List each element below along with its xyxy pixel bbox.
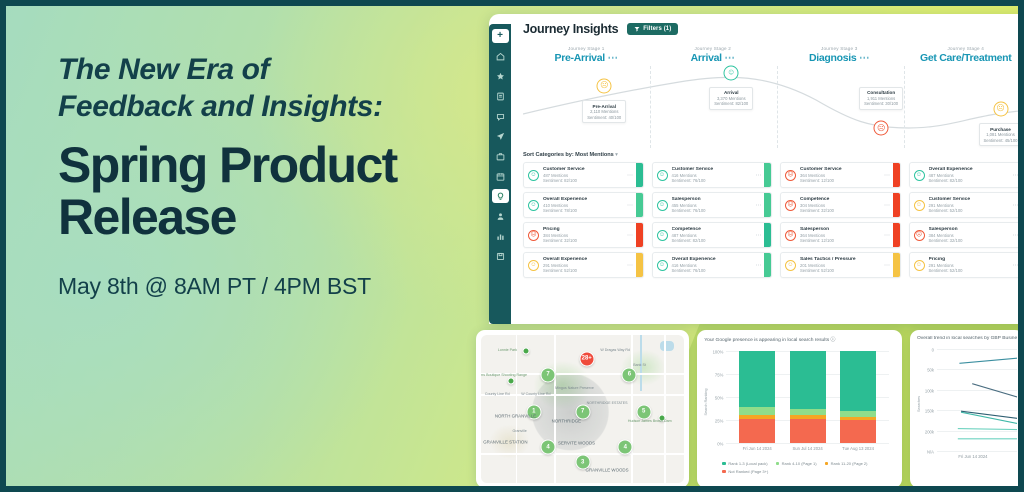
map-label: NORTH GRANVILLE — [495, 414, 536, 419]
category-name: Customer Service — [800, 167, 884, 172]
sort-categories-control[interactable]: Sort Categories by: Most Mentions ▾ — [523, 152, 1024, 158]
sentiment-face-icon: ☹ — [914, 230, 925, 241]
sentiment-bar — [636, 223, 643, 247]
category-column-4: ☺ Overall Experience 487 Mentions Sentim… — [909, 162, 1024, 278]
send-icon[interactable] — [492, 129, 509, 143]
tooltip-sentiment: Sentiment: 82/100 — [714, 101, 748, 106]
sentiment-face-icon: ☺ — [657, 200, 668, 211]
category-sentiment: Sentiment: 32/100 — [543, 238, 627, 243]
hero-copy: The New Era of Feedback and Insights: Sp… — [58, 52, 458, 300]
y-tick-label: 200k — [925, 429, 934, 434]
category-sentiment: Sentiment: 82/100 — [672, 238, 756, 243]
category-name: Customer Service — [929, 197, 1013, 202]
legend-swatch — [825, 462, 829, 466]
journey-tooltip-arrival: Arrival 3,370 Mentions Sentiment: 82/100 — [709, 87, 753, 110]
hero-eyebrow-line-2: Feedback and Insights: — [58, 89, 458, 126]
category-column-1: ☺ Customer Service 487 Mentions Sentimen… — [523, 162, 644, 278]
card-menu-icon[interactable]: ⋯ — [627, 232, 634, 239]
y-tick-label: 100% — [713, 350, 724, 355]
chat-bubble-icon[interactable] — [492, 109, 509, 123]
category-mentions: 455 Mentions — [672, 203, 756, 208]
journey-stage-1[interactable]: Journey Stage 1 Pre-Arrival ⋯ — [523, 46, 650, 64]
line-chart-title: Overall trend in local searches by GBP B… — [917, 336, 1017, 341]
category-sentiment: Sentiment: 78/100 — [543, 208, 627, 213]
journey-node-arrival[interactable]: ☺ — [724, 65, 739, 80]
card-menu-icon[interactable]: ⋯ — [884, 232, 891, 239]
category-card[interactable]: ☺ Overall Experience 291 Mentions Sentim… — [523, 252, 644, 278]
bar-segment-rank-4-10 — [739, 407, 775, 415]
y-tick-label: 50% — [715, 396, 723, 401]
app-sidebar-rail: + — [489, 24, 511, 324]
sentiment-bar — [893, 193, 900, 217]
line-chart-svg — [937, 349, 1017, 451]
sentiment-bar — [893, 223, 900, 247]
map-label: Sir Arms Boutique Shooting Range — [481, 373, 527, 377]
category-card[interactable]: ☺ Overall Experience 487 Mentions Sentim… — [909, 162, 1024, 188]
local-map-panel[interactable]: 28+ 7 6 1 7 5 4 4 3 Lonnie Park Sir Arms… — [476, 330, 689, 488]
sentiment-face-icon: ☺ — [528, 260, 539, 271]
category-name: Overall Experience — [929, 167, 1013, 172]
category-mentions: 291 Mentions — [929, 263, 1013, 268]
category-card[interactable]: ☺ Salesperson 455 Mentions Sentiment: 76… — [652, 192, 773, 218]
stage-menu-icon[interactable]: ⋯ — [859, 52, 870, 64]
sentiment-bar — [764, 163, 771, 187]
category-mentions: 364 Mentions — [800, 233, 884, 238]
card-menu-icon[interactable]: ⋯ — [627, 172, 634, 179]
map-label: Lonnie Park — [498, 348, 517, 352]
card-menu-icon[interactable]: ⋯ — [756, 202, 763, 209]
bar-group[interactable]: Fri Jun 14 2024 — [739, 351, 775, 443]
hero-title-line-1: Spring Product — [58, 139, 458, 191]
bar-chart-icon[interactable] — [492, 229, 509, 243]
map-road — [554, 335, 556, 483]
stage-divider-1 — [650, 66, 651, 148]
card-menu-icon[interactable]: ⋯ — [627, 262, 634, 269]
category-card[interactable]: ☺ Competence 487 Mentions Sentiment: 82/… — [652, 222, 773, 248]
card-menu-icon[interactable]: ⋯ — [756, 262, 763, 269]
bar-segment-not-ranked — [739, 419, 775, 443]
journey-stage-4[interactable]: Journey Stage 4 Get Care/Treatment — [903, 46, 1024, 64]
filter-icon — [634, 26, 640, 32]
sentiment-bar — [636, 193, 643, 217]
stage-name-label: Get Care/Treatment — [903, 52, 1024, 64]
map-pin[interactable]: 4 — [541, 440, 556, 455]
stage-name-text: Diagnosis — [809, 52, 856, 64]
stage-menu-icon[interactable]: ⋯ — [724, 52, 735, 64]
category-sentiment: Sentiment: 82/100 — [543, 178, 627, 183]
category-mentions: 201 Mentions — [800, 263, 884, 268]
legend-swatch — [722, 462, 726, 466]
legend-label: Rank 1-3 (Local pack) — [728, 461, 767, 466]
category-card[interactable]: ☺ Customer Service 291 Mentions Sentimen… — [909, 192, 1024, 218]
category-name: Salesperson — [929, 227, 1013, 232]
bar-chart-plot: Search Ranking 100% 75% 50% 25% 0% Fri J… — [704, 347, 895, 457]
y-tick-label: 0 — [932, 348, 934, 353]
legend-label: Rank 11-20 (Page 2) — [831, 461, 868, 466]
sentiment-bar — [764, 223, 771, 247]
map-road — [481, 394, 684, 396]
map-pin[interactable]: 7 — [541, 367, 556, 382]
card-menu-icon[interactable]: ⋯ — [627, 202, 634, 209]
card-menu-icon[interactable]: ⋯ — [1013, 262, 1020, 269]
page-title: Spring Product Release — [58, 139, 458, 243]
sentiment-face-icon: ☹ — [785, 200, 796, 211]
event-date: May 8th @ 8AM PT / 4PM BST — [58, 273, 458, 300]
category-mentions: 291 Mentions — [543, 263, 627, 268]
map-label: Granville — [513, 429, 527, 433]
stage-divider-2 — [777, 66, 778, 148]
sentiment-face-icon: ☺ — [528, 170, 539, 181]
map-poi-pin[interactable] — [522, 348, 529, 355]
category-mentions: 416 Mentions — [672, 173, 756, 178]
tooltip-title: Consultation — [864, 90, 898, 95]
stage-name-label: Pre-Arrival ⋯ — [523, 52, 650, 64]
category-card[interactable]: ☺ Customer Service 487 Mentions Sentimen… — [523, 162, 644, 188]
tooltip-sentiment: Sentiment: 30/100 — [864, 101, 898, 106]
map-label: W County Line Rd — [521, 392, 550, 396]
category-card[interactable]: ☹ Salesperson 364 Mentions Sentiment: 12… — [780, 222, 901, 248]
legend-label: Rank 4-10 (Page 1) — [782, 461, 817, 466]
map-label: Hudson James Brown Dam — [628, 419, 672, 423]
line-chart-grid: 0 50k 100k 150k 200k N/A Fri Jun 14 2024 — [937, 349, 1017, 451]
stage-sub-label: Journey Stage 4 — [903, 46, 1024, 51]
category-name: Competence — [800, 197, 884, 202]
legend-swatch — [776, 462, 780, 466]
category-card[interactable]: ☺ Customer Service 416 Mentions Sentimen… — [652, 162, 773, 188]
card-menu-icon[interactable]: ⋯ — [1013, 232, 1020, 239]
filters-button-label: Filters (1) — [643, 26, 671, 32]
map-pin[interactable]: 7 — [575, 404, 590, 419]
map-label: NORTHRIDGE ESTATES — [587, 401, 628, 405]
hero-title-line-2: Release — [58, 191, 458, 243]
tooltip-mentions: 1,081 Mentions — [984, 132, 1018, 137]
category-sentiment: Sentiment: 32/100 — [800, 208, 884, 213]
dashboard-body: Journey Insights Filters (1) Journey Sta… — [511, 14, 1024, 324]
calendar-icon[interactable] — [492, 169, 509, 183]
sentiment-bar — [764, 253, 771, 277]
stage-sub-label: Journey Stage 1 — [523, 46, 650, 51]
sentiment-bar — [636, 163, 643, 187]
bar-group[interactable]: Tue Aug 13 2024 — [840, 351, 876, 443]
map-label: W Dragas Way Rd — [600, 348, 630, 352]
y-tick-label: 100k — [925, 388, 934, 393]
lightbulb-icon[interactable] — [492, 189, 509, 203]
hero-eyebrow: The New Era of Feedback and Insights: — [58, 52, 458, 125]
line-chart-plot: Searches 0 50k 100k 150k 200k N/A — [917, 345, 1017, 463]
card-menu-icon[interactable]: ⋯ — [884, 202, 891, 209]
x-tick-label: Tue Aug 13 2024 — [842, 446, 874, 451]
journey-stage-2[interactable]: Journey Stage 2 Arrival ⋯ — [650, 46, 777, 64]
tooltip-title: Pre-Arrival — [587, 104, 621, 109]
category-sentiment: Sentiment: 12/100 — [800, 178, 884, 183]
category-name: Pricing — [929, 257, 1013, 262]
sentiment-face-icon: ☺ — [657, 260, 668, 271]
sentiment-face-icon: ☺ — [657, 230, 668, 241]
category-mentions: 416 Mentions — [672, 263, 756, 268]
sentiment-face-icon: ☺ — [914, 260, 925, 271]
dashboard-header: Journey Insights Filters (1) — [523, 22, 1024, 36]
category-sentiment: Sentiment: 52/100 — [543, 268, 627, 273]
category-mentions: 364 Mentions — [800, 173, 884, 178]
journey-tooltip-purchase: Purchase 1,081 Mentions Sentiment: 45/10… — [979, 123, 1023, 146]
map-label: Mingus Nature Preserve — [555, 386, 594, 390]
bar-chart-legend: Rank 1-3 (Local pack) Rank 4-10 (Page 1)… — [704, 461, 895, 474]
card-menu-icon[interactable]: ⋯ — [1013, 172, 1020, 179]
bar-chart-grid: 100% 75% 50% 25% 0% Fri Jun 14 2024 — [726, 351, 889, 443]
category-card[interactable]: ☺ Overall Experience 416 Mentions Sentim… — [652, 252, 773, 278]
hero-eyebrow-line-1: The New Era of — [58, 52, 458, 89]
search-trend-line-chart-panel[interactable]: Overall trend in local searches by GBP B… — [910, 330, 1024, 488]
sentiment-face-icon: ☹ — [785, 230, 796, 241]
category-sentiment: Sentiment: 82/100 — [929, 178, 1013, 183]
stage-name-label: Diagnosis ⋯ — [776, 52, 903, 64]
category-sentiment: Sentiment: 12/100 — [800, 238, 884, 243]
sentiment-face-icon: ☹ — [528, 230, 539, 241]
y-tick-label: N/A — [927, 450, 934, 455]
map-pin[interactable]: 4 — [618, 440, 633, 455]
x-tick-label: Fri Jun 14 2024 — [743, 446, 772, 451]
legend-item[interactable]: Rank 11-20 (Page 2) — [825, 461, 868, 466]
stage-name-text: Arrival — [691, 52, 722, 64]
sentiment-bar — [764, 193, 771, 217]
journey-insights-title: Journey Insights — [523, 22, 618, 36]
stage-divider-3 — [904, 66, 905, 148]
category-card[interactable]: ☹ Competence 304 Mentions Sentiment: 32/… — [780, 192, 901, 218]
dashboard-chrome: + — [489, 14, 1024, 324]
y-tick-label: 150k — [925, 409, 934, 414]
category-mentions: 487 Mentions — [672, 233, 756, 238]
stage-sub-label: Journey Stage 2 — [650, 46, 777, 51]
map-label: GRANVILLE WOODS — [586, 467, 629, 472]
tooltip-mentions: 3,370 Mentions — [714, 96, 748, 101]
y-tick-label: 75% — [715, 373, 723, 378]
category-card[interactable]: ☺ Sales Tactics / Pressure 201 Mentions … — [780, 252, 901, 278]
map-label: SERVITE WOODS — [558, 441, 595, 446]
document-icon[interactable] — [492, 89, 509, 103]
category-card[interactable]: ☹ Salesperson 384 Mentions Sentiment: 32… — [909, 222, 1024, 248]
tooltip-mentions: 2,110 Mentions — [587, 109, 621, 114]
category-mentions: 291 Mentions — [929, 203, 1013, 208]
map-water — [660, 341, 674, 351]
map-label: NORTHRIDGE — [552, 418, 581, 423]
legend-item[interactable]: Not Ranked (Page 3+) — [722, 469, 768, 474]
save-icon[interactable] — [492, 249, 509, 263]
gridline: 0% — [726, 443, 889, 444]
journey-sentiment-curve: ☹ Pre-Arrival 2,110 Mentions Sentiment: … — [523, 66, 1024, 148]
bar-group[interactable]: Sun Jul 14 2024 — [790, 351, 826, 443]
y-tick-label: 50k — [927, 368, 934, 373]
journey-tooltip-consultation: Consultation 1,911 Mentions Sentiment: 3… — [859, 87, 903, 110]
stage-sub-label: Journey Stage 3 — [776, 46, 903, 51]
tooltip-title: Purchase — [984, 127, 1018, 132]
category-card[interactable]: ☺ Pricing 291 Mentions Sentiment: 52/100… — [909, 252, 1024, 278]
map-canvas[interactable]: 28+ 7 6 1 7 5 4 4 3 Lonnie Park Sir Arms… — [481, 335, 684, 483]
category-mentions: 304 Mentions — [800, 203, 884, 208]
y-tick-label: 25% — [715, 419, 723, 424]
sentiment-face-icon: ☹ — [785, 170, 796, 181]
card-menu-icon[interactable]: ⋯ — [884, 262, 891, 269]
card-menu-icon[interactable]: ⋯ — [884, 172, 891, 179]
category-name: Overall Experience — [543, 257, 627, 262]
stage-menu-icon[interactable]: ⋯ — [608, 52, 619, 64]
map-label: Bank St — [633, 363, 646, 367]
category-card[interactable]: ☹ Pricing 384 Mentions Sentiment: 32/100… — [523, 222, 644, 248]
search-rank-bar-chart-panel[interactable]: Your Google presence is appearing in loc… — [697, 330, 902, 488]
category-sentiment: Sentiment: 76/100 — [672, 178, 756, 183]
category-name: Competence — [672, 227, 756, 232]
map-poi-pin[interactable] — [508, 377, 515, 384]
category-mentions: 410 Mentions — [543, 203, 627, 208]
journey-tooltip-pre-arrival: Pre-Arrival 2,110 Mentions Sentiment: 40… — [582, 100, 626, 123]
category-sentiment: Sentiment: 52/100 — [929, 208, 1013, 213]
bar-segment-rank-1-3 — [790, 351, 826, 409]
filters-button[interactable]: Filters (1) — [627, 23, 678, 35]
y-tick-label: 0% — [717, 442, 723, 447]
category-name: Overall Experience — [672, 257, 756, 262]
category-name: Pricing — [543, 227, 627, 232]
briefcase-icon[interactable] — [492, 149, 509, 163]
x-tick-label: Sun Jul 14 2024 — [792, 446, 822, 451]
journey-stage-headers: Journey Stage 1 Pre-Arrival ⋯ Journey St… — [523, 46, 1024, 64]
line-chart-y-axis-title: Searches — [917, 396, 921, 412]
category-sentiment: Sentiment: 32/100 — [929, 238, 1013, 243]
category-sentiment: Sentiment: 76/100 — [672, 208, 756, 213]
category-sentiment: Sentiment: 76/100 — [672, 268, 756, 273]
journey-node-consultation[interactable]: ☹ — [874, 121, 889, 136]
person-icon[interactable] — [492, 209, 509, 223]
promo-banner: The New Era of Feedback and Insights: Sp… — [0, 0, 1024, 492]
sentiment-bar — [636, 253, 643, 277]
tooltip-mentions: 1,911 Mentions — [864, 96, 898, 101]
legend-item[interactable]: Rank 1-3 (Local pack) — [722, 461, 767, 466]
map-cluster-badge[interactable]: 28+ — [579, 351, 594, 366]
x-tick-label: Fri Jun 14 2024 — [958, 454, 987, 459]
stage-name-text: Pre-Arrival — [554, 52, 604, 64]
chevron-down-icon[interactable]: ▾ — [615, 152, 618, 158]
category-sentiment: Sentiment: 52/100 — [929, 268, 1013, 273]
bar-segment-not-ranked — [840, 420, 876, 443]
category-name: Salesperson — [672, 197, 756, 202]
bar-chart-title: Your Google presence is appearing in loc… — [704, 336, 895, 343]
journey-stage-3[interactable]: Journey Stage 3 Diagnosis ⋯ — [776, 46, 903, 64]
sentiment-face-icon: ☺ — [914, 200, 925, 211]
bottom-panel-row: 28+ 7 6 1 7 5 4 4 3 Lonnie Park Sir Arms… — [476, 330, 1024, 488]
card-menu-icon[interactable]: ⋯ — [1013, 202, 1020, 209]
map-pin[interactable]: 5 — [636, 404, 651, 419]
tooltip-sentiment: Sentiment: 40/100 — [587, 115, 621, 120]
sentiment-face-icon: ☺ — [528, 200, 539, 211]
tooltip-sentiment: Sentiment: 45/100 — [984, 138, 1018, 143]
category-name: Customer Service — [543, 167, 627, 172]
category-card[interactable]: ☹ Customer Service 364 Mentions Sentimen… — [780, 162, 901, 188]
bar-segment-rank-1-3 — [840, 351, 876, 411]
gridline: N/A — [937, 451, 1017, 452]
stage-name-label: Arrival ⋯ — [650, 52, 777, 64]
map-label: GRANVILLE STATION — [483, 439, 527, 444]
category-sentiment: Sentiment: 52/100 — [800, 268, 884, 273]
card-menu-icon[interactable]: ⋯ — [756, 172, 763, 179]
category-mentions: 487 Mentions — [543, 173, 627, 178]
category-column-3: ☹ Customer Service 364 Mentions Sentimen… — [780, 162, 901, 278]
star-icon[interactable] — [492, 69, 509, 83]
legend-label: Not Ranked (Page 3+) — [728, 469, 768, 474]
map-pin[interactable]: 6 — [622, 367, 637, 382]
category-name: Overall Experience — [543, 197, 627, 202]
sentiment-face-icon: ☺ — [657, 170, 668, 181]
tooltip-title: Arrival — [714, 90, 748, 95]
category-mentions: 384 Mentions — [543, 233, 627, 238]
category-card[interactable]: ☺ Overall Experience 410 Mentions Sentim… — [523, 192, 644, 218]
map-road — [516, 335, 518, 483]
card-menu-icon[interactable]: ⋯ — [756, 232, 763, 239]
category-mentions: 384 Mentions — [929, 233, 1013, 238]
bar-chart-y-axis-title: Search Ranking — [704, 388, 708, 415]
sentiment-bar — [893, 253, 900, 277]
journey-node-pre-arrival[interactable]: ☹ — [597, 78, 612, 93]
category-card-grid: ☺ Customer Service 487 Mentions Sentimen… — [523, 162, 1024, 278]
category-name: Sales Tactics / Pressure — [800, 257, 884, 262]
sort-categories-label: Sort Categories by: Most Mentions — [523, 152, 614, 158]
stage-name-text: Get Care/Treatment — [920, 52, 1011, 64]
bar-segment-rank-1-3 — [739, 351, 775, 407]
legend-swatch — [722, 470, 726, 474]
map-label: County Line Rd — [485, 392, 510, 396]
legend-item[interactable]: Rank 4-10 (Page 1) — [776, 461, 817, 466]
plus-icon[interactable]: + — [492, 29, 509, 43]
sentiment-bar — [893, 163, 900, 187]
category-name: Customer Service — [672, 167, 756, 172]
sentiment-face-icon: ☺ — [914, 170, 925, 181]
dashboard-window: + — [471, 14, 1024, 324]
journey-node-purchase[interactable]: ☹ — [993, 101, 1008, 116]
category-mentions: 487 Mentions — [929, 173, 1013, 178]
category-column-2: ☺ Customer Service 416 Mentions Sentimen… — [652, 162, 773, 278]
category-name: Salesperson — [800, 227, 884, 232]
map-road — [664, 335, 666, 483]
home-icon[interactable] — [492, 49, 509, 63]
bar-segment-not-ranked — [790, 419, 826, 443]
map-road — [631, 335, 633, 483]
sentiment-face-icon: ☺ — [785, 260, 796, 271]
